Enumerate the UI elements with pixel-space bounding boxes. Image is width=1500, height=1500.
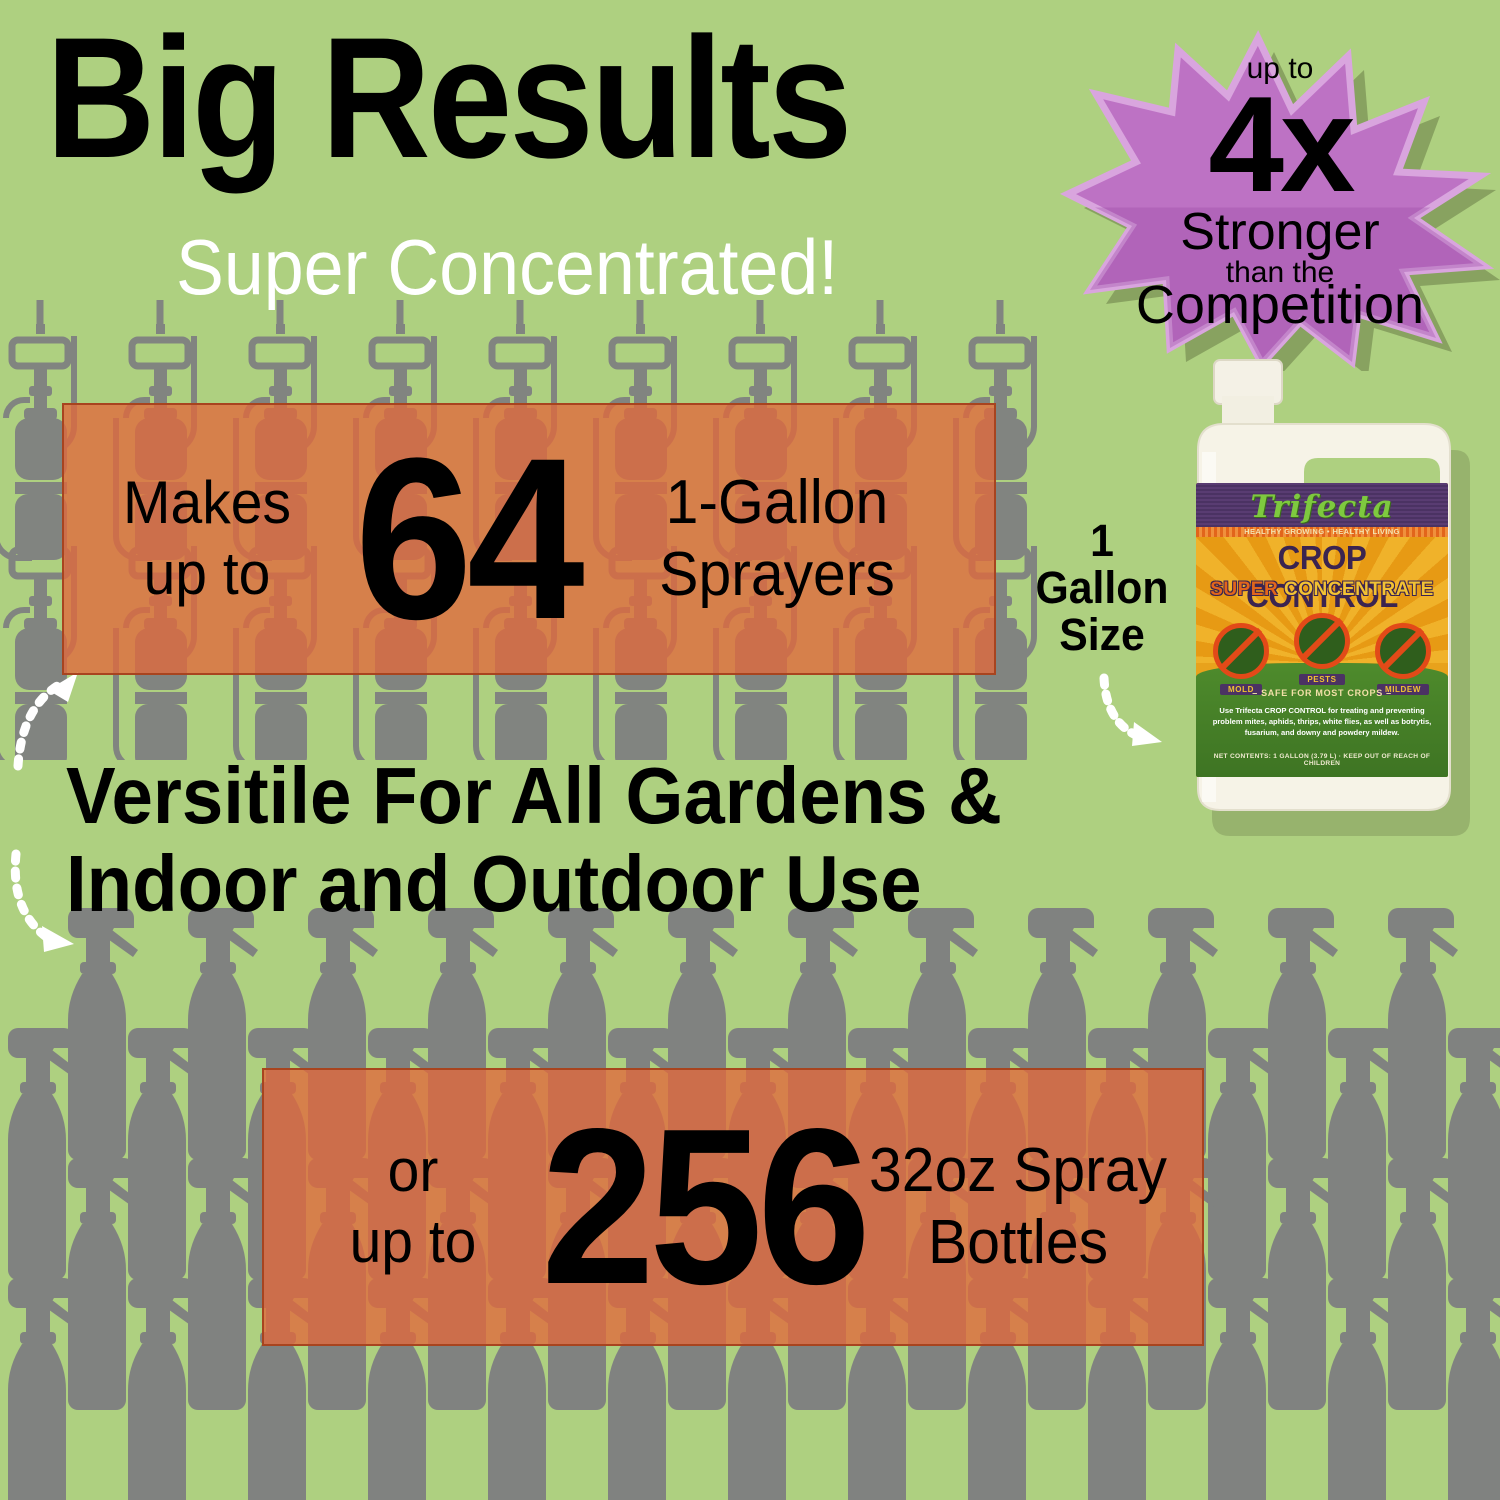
callout-bottom-left-text: or up to xyxy=(304,1136,523,1278)
callout-bottom-left-line2: up to xyxy=(304,1207,523,1278)
gallon-size-arrow-icon xyxy=(1090,672,1180,752)
callout-top-left-line2: up to xyxy=(98,539,317,610)
callout-top-left-line1: Makes xyxy=(98,468,317,539)
label-brand-logo: Trifecta xyxy=(1196,489,1448,525)
page-title: Big Results xyxy=(46,16,979,181)
callout-bottom-right-line1: 32oz Spray xyxy=(866,1135,1170,1207)
starburst-badge: up to 4x Stronger than the Competition xyxy=(1060,26,1500,371)
product-bottle: Trifecta HEALTHY GROWING • HEALTHY LIVIN… xyxy=(1168,352,1478,842)
label-brand-banner: HEALTHY GROWING • HEALTHY LIVING xyxy=(1212,527,1432,536)
callout-top-right-line1: 1-Gallon xyxy=(620,467,934,539)
label-badge-pests: PESTS xyxy=(1289,613,1355,687)
gallon-size-line3: Size xyxy=(1026,612,1178,659)
callout-box-sprayers: Makes up to 64 1-Gallon Sprayers xyxy=(62,403,996,675)
product-infographic: Big Results Super Concentrated! up to 4x… xyxy=(0,0,1500,1500)
gallon-size-caption: 1 Gallon Size xyxy=(1026,518,1178,658)
label-badge-row: MOLD PESTS MILDEW xyxy=(1196,623,1448,683)
callout-top-right-text: 1-Gallon Sprayers xyxy=(620,467,934,611)
label-badge-pests-text: PESTS xyxy=(1299,674,1344,685)
callout-bottom-number: 256 xyxy=(541,1096,845,1318)
page-subtitle: Super Concentrated! xyxy=(176,228,1004,306)
label-safe-line: – SAFE FOR MOST CROPS – xyxy=(1196,688,1448,698)
label-net-contents: NET CONTENTS: 1 GALLON (3.79 L) · KEEP O… xyxy=(1196,753,1448,767)
starburst-multiplier: 4x xyxy=(1060,76,1500,212)
no-pests-icon xyxy=(1294,613,1350,669)
versatility-line1: Versitile For All Gardens & xyxy=(66,752,1070,840)
callout-box-spray-bottles: or up to 256 32oz Spray Bottles xyxy=(262,1068,1204,1346)
callout-bottom-right-text: 32oz Spray Bottles xyxy=(866,1135,1170,1279)
label-product-title: CROP CONTROL xyxy=(1202,539,1441,615)
gallon-size-line1: 1 xyxy=(1026,518,1178,565)
label-product-subtitle: SUPER CONCENTRATE xyxy=(1196,579,1448,601)
callout-bottom-right-line2: Bottles xyxy=(866,1207,1170,1279)
label-body-text: Use Trifecta CROP CONTROL for treating a… xyxy=(1208,705,1436,738)
label-subtitle-super: SUPER xyxy=(1210,579,1278,600)
label-badge-mold: MOLD xyxy=(1208,623,1274,697)
callout-bottom-left-line1: or xyxy=(304,1136,523,1207)
callout-top-left-text: Makes up to xyxy=(98,468,317,610)
gallon-size-line2: Gallon xyxy=(1026,565,1178,612)
label-badge-mildew: MILDEW xyxy=(1370,623,1436,697)
label-subtitle-concentrate: CONCENTRATE xyxy=(1284,579,1434,600)
starburst-stronger-label: Stronger xyxy=(1060,206,1500,258)
callout-top-number: 64 xyxy=(334,424,601,654)
product-label: Trifecta HEALTHY GROWING • HEALTHY LIVIN… xyxy=(1196,483,1448,777)
starburst-competition-label: Competition xyxy=(1060,278,1500,332)
versatility-line2: Indoor and Outdoor Use xyxy=(66,840,1070,928)
versatility-statement: Versitile For All Gardens & Indoor and O… xyxy=(66,752,1070,928)
no-mildew-icon xyxy=(1375,623,1431,679)
no-mold-icon xyxy=(1213,623,1269,679)
callout-top-right-line2: Sprayers xyxy=(620,539,934,611)
